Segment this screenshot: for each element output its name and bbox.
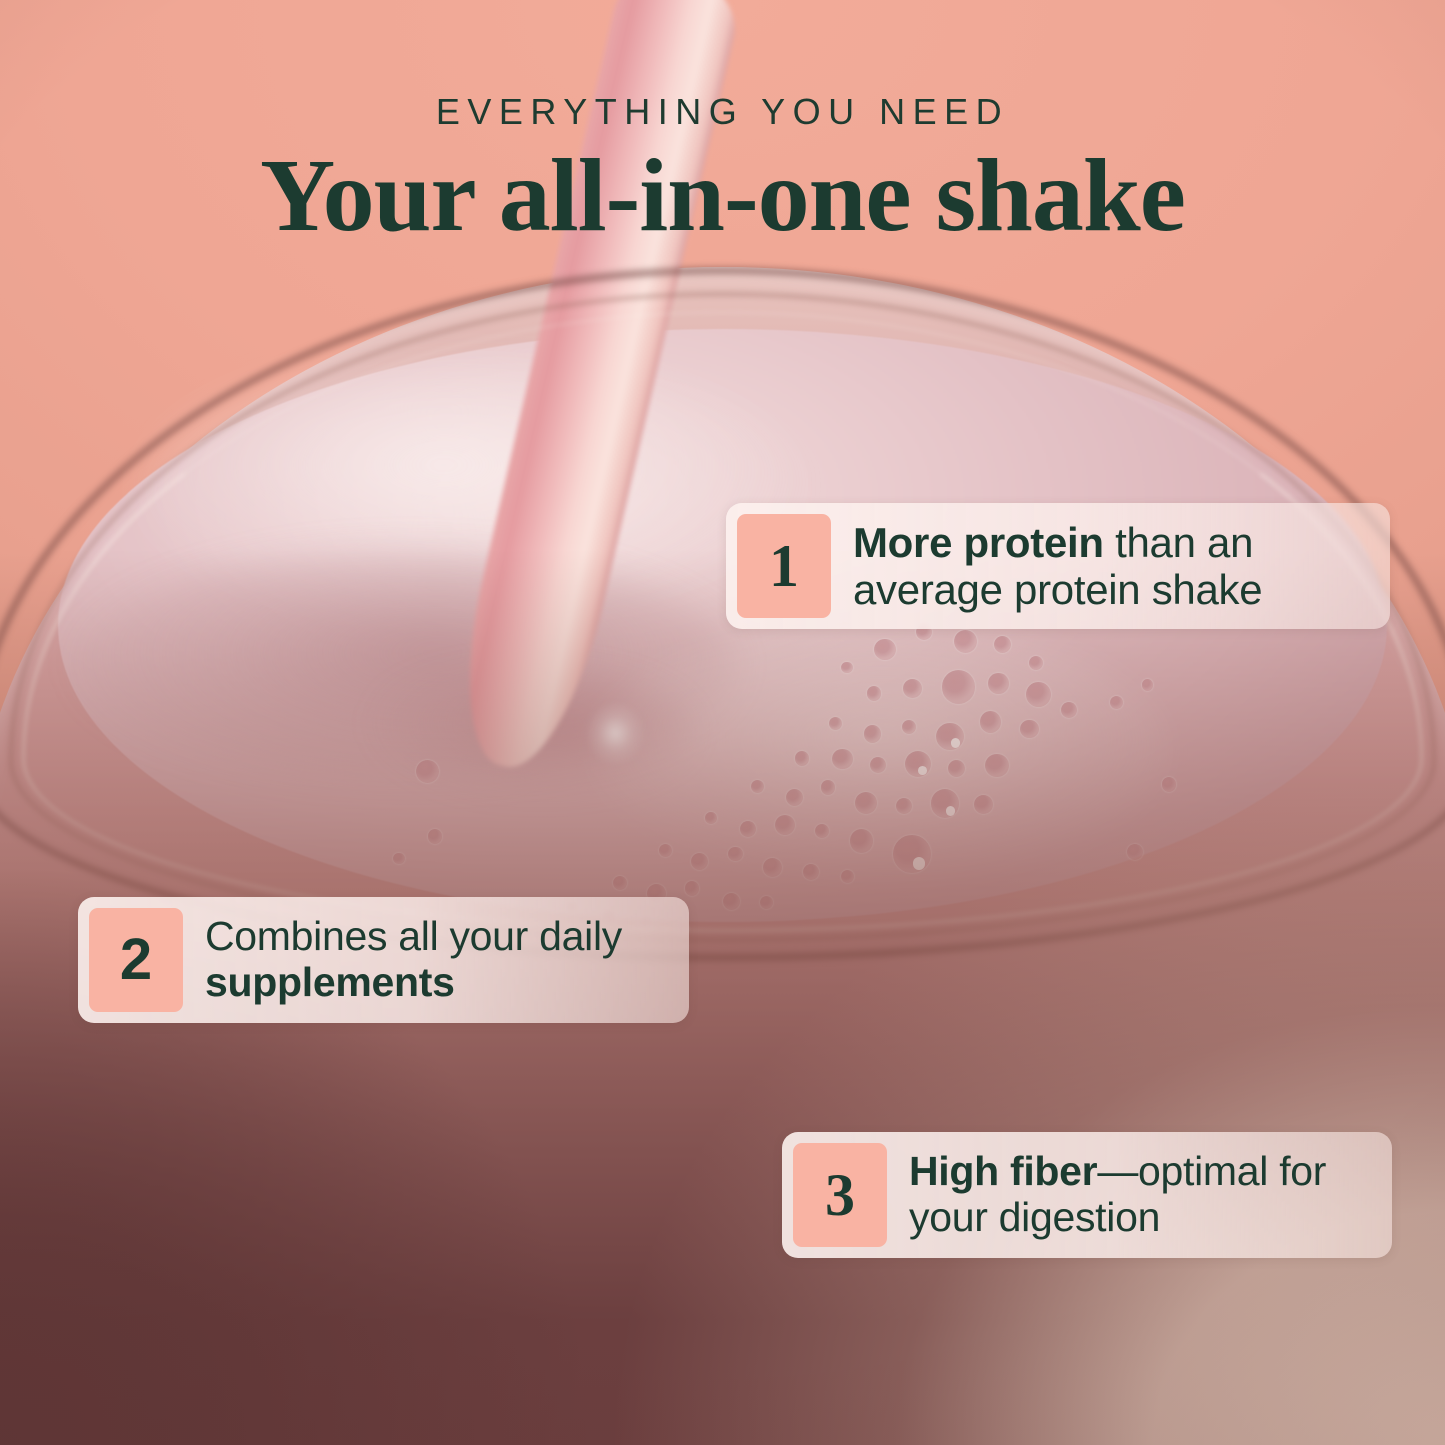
callout-1-rest: than an [1104, 519, 1253, 566]
callout-1-line2: average protein shake [853, 566, 1262, 613]
callout-card-3: 3 High fiber—optimal for your digestion [782, 1132, 1392, 1258]
callout-text-3: High fiber—optimal for your digestion [887, 1143, 1381, 1247]
callout-card-1: 1 More protein than an average protein s… [726, 503, 1390, 629]
callout-3-strong: High fiber [909, 1148, 1097, 1194]
callout-2-rest: Combines all your [205, 913, 528, 959]
callout-number-badge-2: 2 [89, 908, 183, 1012]
callout-text-1: More protein than an average protein sha… [831, 514, 1379, 618]
page-title: Your all-in-one shake [0, 140, 1445, 252]
callout-text-2: Combines all your daily supplements [183, 908, 678, 1012]
poster-canvas: EVERYTHING YOU NEED Your all-in-one shak… [0, 0, 1445, 1445]
callout-1-strong: More protein [853, 519, 1104, 566]
callout-3-rest: —optimal [1097, 1148, 1268, 1194]
callout-number-badge-1: 1 [737, 514, 831, 618]
header-block: EVERYTHING YOU NEED Your all-in-one shak… [0, 92, 1445, 252]
background-bottom-right-shade [520, 780, 1445, 1445]
callout-number-badge-3: 3 [793, 1143, 887, 1247]
kicker-text: EVERYTHING YOU NEED [0, 92, 1445, 132]
callout-2-line2: daily [539, 913, 622, 959]
callout-2-strong: supplements [205, 959, 455, 1005]
callout-card-2: 2 Combines all your daily supplements [78, 897, 689, 1023]
